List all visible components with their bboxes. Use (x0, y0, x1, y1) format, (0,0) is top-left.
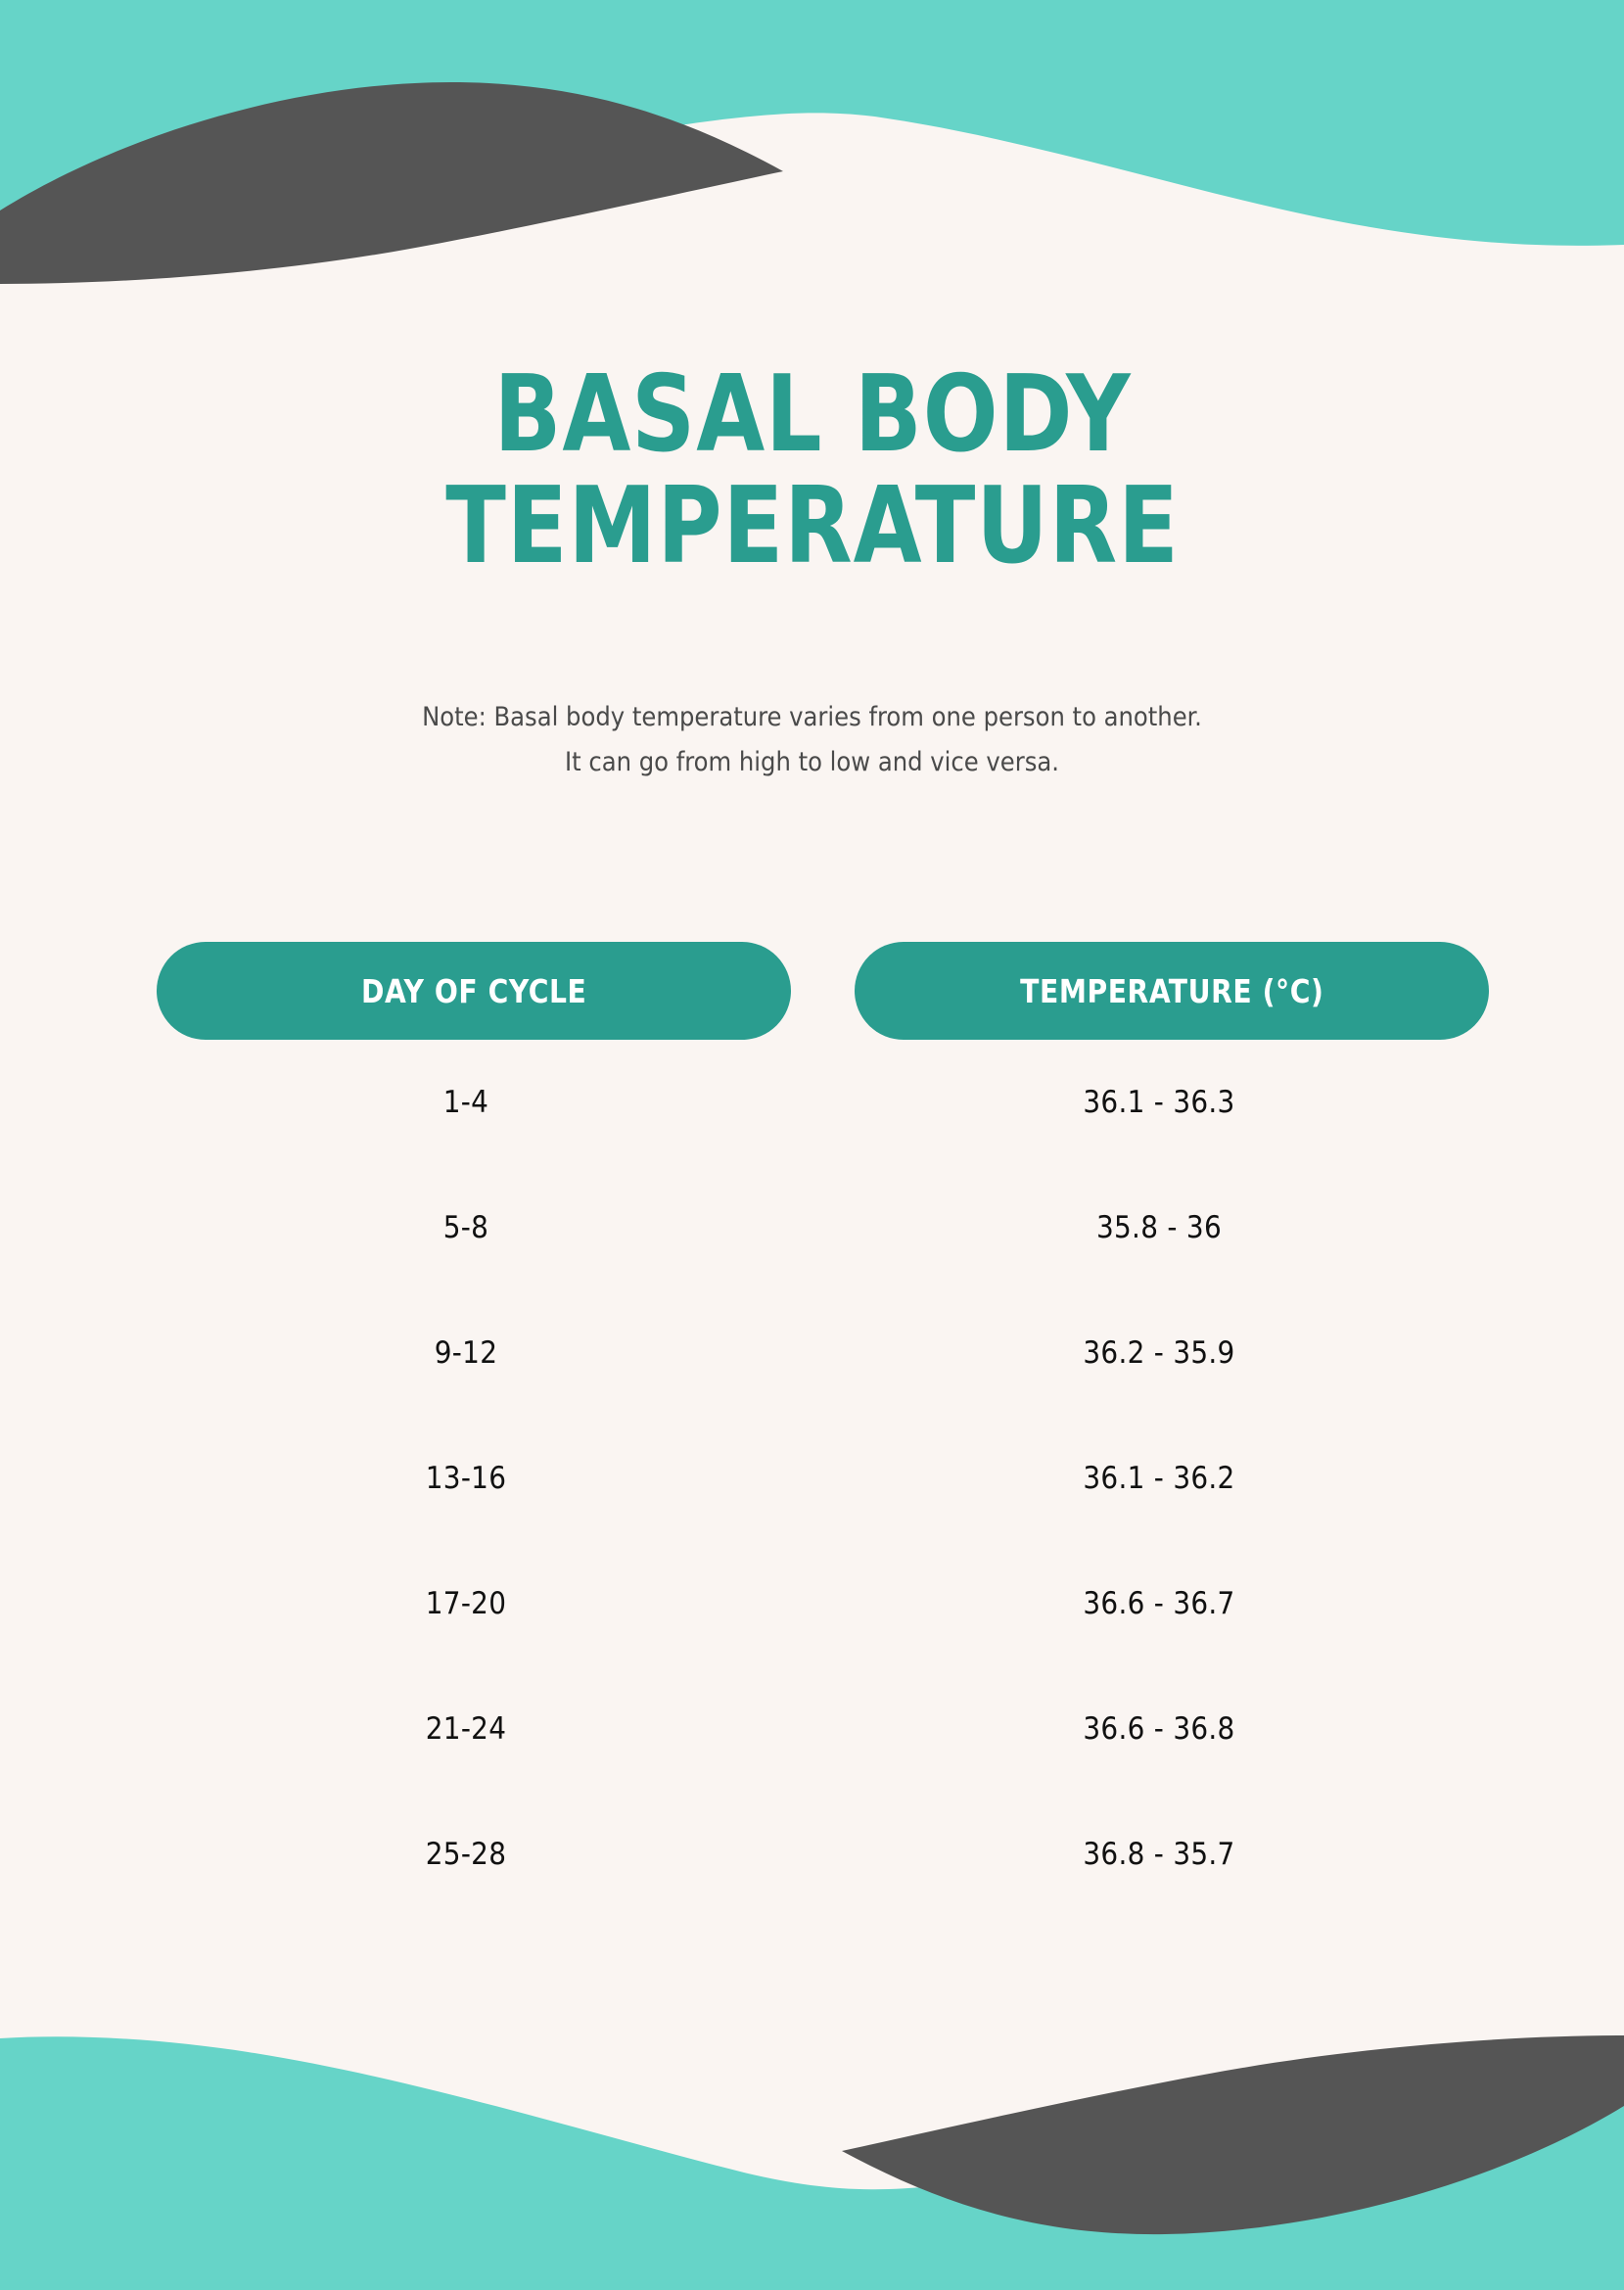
cell-day-of-cycle: 5-8 (149, 1210, 783, 1245)
table-row: 9-12 36.2 - 35.9 (157, 1290, 1488, 1416)
cell-temperature: 36.8 - 35.7 (842, 1837, 1476, 1872)
cell-day-of-cycle: 17-20 (149, 1586, 783, 1621)
cell-temperature: 36.1 - 36.3 (842, 1085, 1476, 1120)
cell-day-of-cycle: 1-4 (149, 1085, 783, 1120)
note-text: Note: Basal body temperature varies from… (225, 695, 1400, 786)
table-row: 21-24 36.6 - 36.8 (157, 1666, 1488, 1792)
table-row: 1-4 36.1 - 36.3 (157, 1040, 1488, 1165)
table-body: 1-4 36.1 - 36.3 5-8 35.8 - 36 9-12 36.2 … (157, 1040, 1488, 1917)
page-title-line-2: TEMPERATURE (275, 471, 1349, 582)
page-title: BASAL BODY TEMPERATURE (235, 359, 1390, 582)
column-header-temperature: TEMPERATURE (°C) (855, 942, 1489, 1040)
table-row: 17-20 36.6 - 36.7 (157, 1541, 1488, 1666)
column-header-temperature-label: TEMPERATURE (°C) (1020, 972, 1323, 1010)
cell-day-of-cycle: 9-12 (149, 1335, 783, 1371)
poster-content: BASAL BODY TEMPERATURE Note: Basal body … (0, 0, 1624, 2290)
cell-day-of-cycle: 13-16 (149, 1461, 783, 1496)
cell-temperature: 35.8 - 36 (842, 1210, 1476, 1245)
cell-day-of-cycle: 21-24 (149, 1711, 783, 1747)
page-title-line-1: BASAL BODY (275, 359, 1349, 470)
note-line-2: It can go from high to low and vice vers… (225, 740, 1400, 785)
cell-temperature: 36.6 - 36.7 (842, 1586, 1476, 1621)
cell-temperature: 36.2 - 35.9 (842, 1335, 1476, 1371)
table-row: 25-28 36.8 - 35.7 (157, 1792, 1488, 1917)
cell-temperature: 36.1 - 36.2 (842, 1461, 1476, 1496)
table-row: 13-16 36.1 - 36.2 (157, 1416, 1488, 1541)
note-line-1: Note: Basal body temperature varies from… (225, 695, 1400, 740)
cell-temperature: 36.6 - 36.8 (842, 1711, 1476, 1747)
basal-body-temperature-table: DAY OF CYCLE TEMPERATURE (°C) 1-4 36.1 -… (157, 942, 1488, 1917)
column-header-day-of-cycle-label: DAY OF CYCLE (361, 972, 586, 1010)
cell-day-of-cycle: 25-28 (149, 1837, 783, 1872)
column-header-day-of-cycle: DAY OF CYCLE (157, 942, 791, 1040)
table-row: 5-8 35.8 - 36 (157, 1165, 1488, 1290)
table-header-row: DAY OF CYCLE TEMPERATURE (°C) (157, 942, 1488, 1040)
poster-page: BASAL BODY TEMPERATURE Note: Basal body … (0, 0, 1624, 2290)
